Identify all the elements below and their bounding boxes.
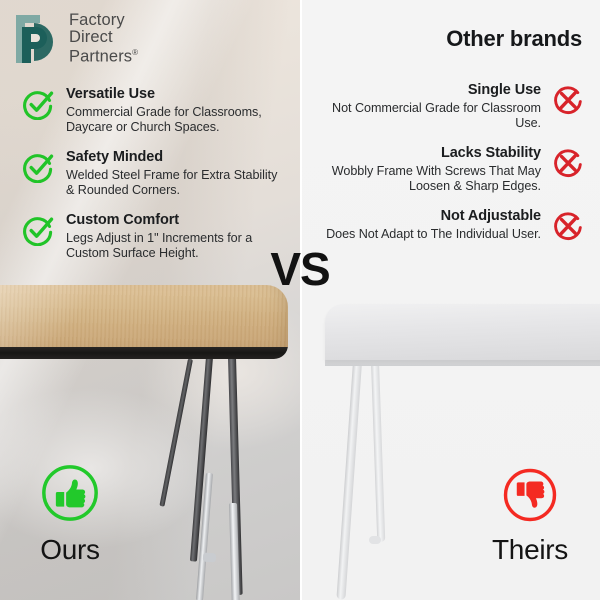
ours-feature-description: Welded Steel Frame for Extra Stability &… <box>66 168 284 199</box>
brand-name: Factory Direct Partners® <box>69 12 138 65</box>
check-circle-icon <box>22 88 54 120</box>
ours-feature-title: Versatile Use <box>66 86 284 103</box>
theirs-feature-title: Single Use <box>316 82 541 99</box>
theirs-feature-title: Lacks Stability <box>316 145 541 162</box>
registered-mark: ® <box>132 48 138 57</box>
ours-feature-description: Commercial Grade for Classrooms, Daycare… <box>66 105 284 136</box>
brand-name-line3: Partners® <box>69 45 138 65</box>
fp-monogram-icon <box>14 13 60 65</box>
brand-name-line1: Factory <box>69 12 138 29</box>
theirs-feature-list: Single Use Not Commercial Grade for Clas… <box>316 82 584 255</box>
theirs-feature-item: Not Adjustable Does Not Adapt to The Ind… <box>316 208 584 242</box>
theirs-feature-text: Lacks Stability Wobbly Frame With Screws… <box>316 145 541 195</box>
white-table-top-surface <box>325 304 600 360</box>
theirs-feature-title: Not Adjustable <box>316 208 541 225</box>
white-table-leg-a <box>336 362 362 600</box>
ours-feature-title: Custom Comfort <box>66 212 284 229</box>
comparison-infographic: Factory Direct Partners® Other brands Ve… <box>0 0 600 600</box>
brand-name-line3-text: Partners <box>69 48 132 66</box>
ours-feature-text: Safety Minded Welded Steel Frame for Ext… <box>66 149 284 199</box>
ours-verdict: Ours <box>22 462 118 565</box>
ours-verdict-label: Ours <box>22 535 118 565</box>
ours-feature-item: Safety Minded Welded Steel Frame for Ext… <box>22 149 284 199</box>
table-edge-banding <box>0 345 288 359</box>
ours-feature-text: Versatile Use Commercial Grade for Class… <box>66 86 284 136</box>
brand-logo: Factory Direct Partners® <box>14 12 138 65</box>
other-brands-title: Other brands <box>446 26 582 52</box>
cross-circle-icon <box>552 84 584 116</box>
cross-circle-icon <box>552 147 584 179</box>
thumbs-down-circle-icon <box>501 466 559 524</box>
brand-name-line2: Direct <box>69 29 138 46</box>
thumbs-up-circle-icon <box>39 462 101 524</box>
check-circle-icon <box>22 214 54 246</box>
theirs-feature-item: Lacks Stability Wobbly Frame With Screws… <box>316 145 584 195</box>
theirs-feature-text: Not Adjustable Does Not Adapt to The Ind… <box>316 208 541 242</box>
theirs-verdict: Theirs <box>482 466 578 565</box>
ours-feature-title: Safety Minded <box>66 149 284 166</box>
theirs-feature-text: Single Use Not Commercial Grade for Clas… <box>316 82 541 132</box>
theirs-feature-description: Not Commercial Grade for Classroom Use. <box>316 101 541 132</box>
theirs-feature-description: Does Not Adapt to The Individual User. <box>316 227 541 242</box>
cross-circle-icon <box>552 210 584 242</box>
table-top-highlight <box>0 285 288 347</box>
versus-label: VS <box>0 246 600 292</box>
theirs-verdict-label: Theirs <box>482 535 578 565</box>
table-brace <box>159 359 193 507</box>
check-circle-icon <box>22 151 54 183</box>
white-table-foot <box>369 536 381 544</box>
panel-divider <box>300 0 302 600</box>
theirs-feature-description: Wobbly Frame With Screws That May Loosen… <box>316 164 541 195</box>
theirs-feature-item: Single Use Not Commercial Grade for Clas… <box>316 82 584 132</box>
white-table-leg-b <box>371 362 385 542</box>
table-leg-foot <box>203 553 217 563</box>
ours-feature-item: Versatile Use Commercial Grade for Class… <box>22 86 284 136</box>
